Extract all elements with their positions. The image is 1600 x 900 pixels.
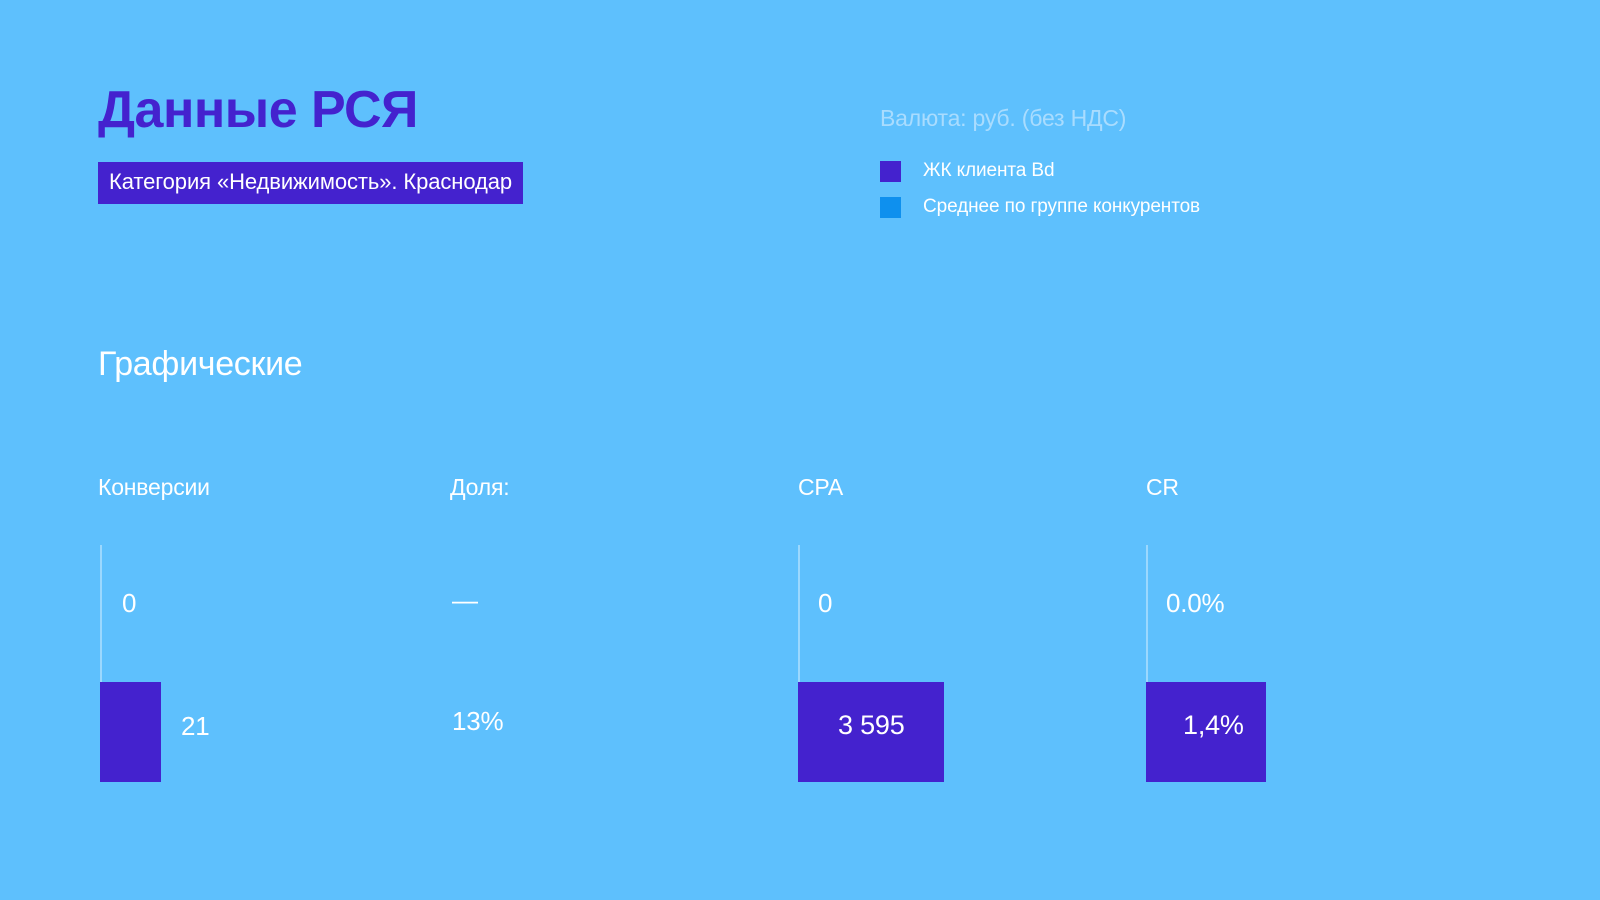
axis-line-cr (1146, 545, 1148, 682)
value-cr-client: 1,4% (1183, 710, 1244, 741)
column-header-cr: CR (1146, 474, 1179, 501)
value-cr-competitors: 0.0% (1166, 588, 1224, 619)
slide-canvas: Данные РСЯ Категория «Недвижимость». Кра… (0, 0, 1600, 900)
value-conversions-client: 21 (181, 711, 210, 742)
axis-line-conversions (100, 545, 102, 682)
value-cpa-competitors: 0 (818, 588, 832, 619)
column-header-conversions: Конверсии (98, 474, 210, 501)
value-share-competitors: — (452, 585, 478, 616)
bar-chart: Конверсии 0 21 Доля: — 13% CPA 0 3 595 C… (0, 0, 1600, 900)
value-share-client: 13% (452, 706, 503, 737)
axis-line-cpa (798, 545, 800, 682)
bar-conversions-client (100, 682, 161, 782)
column-header-share: Доля: (450, 474, 509, 501)
value-cpa-client: 3 595 (838, 710, 905, 741)
column-header-cpa: CPA (798, 474, 843, 501)
value-conversions-competitors: 0 (122, 588, 136, 619)
